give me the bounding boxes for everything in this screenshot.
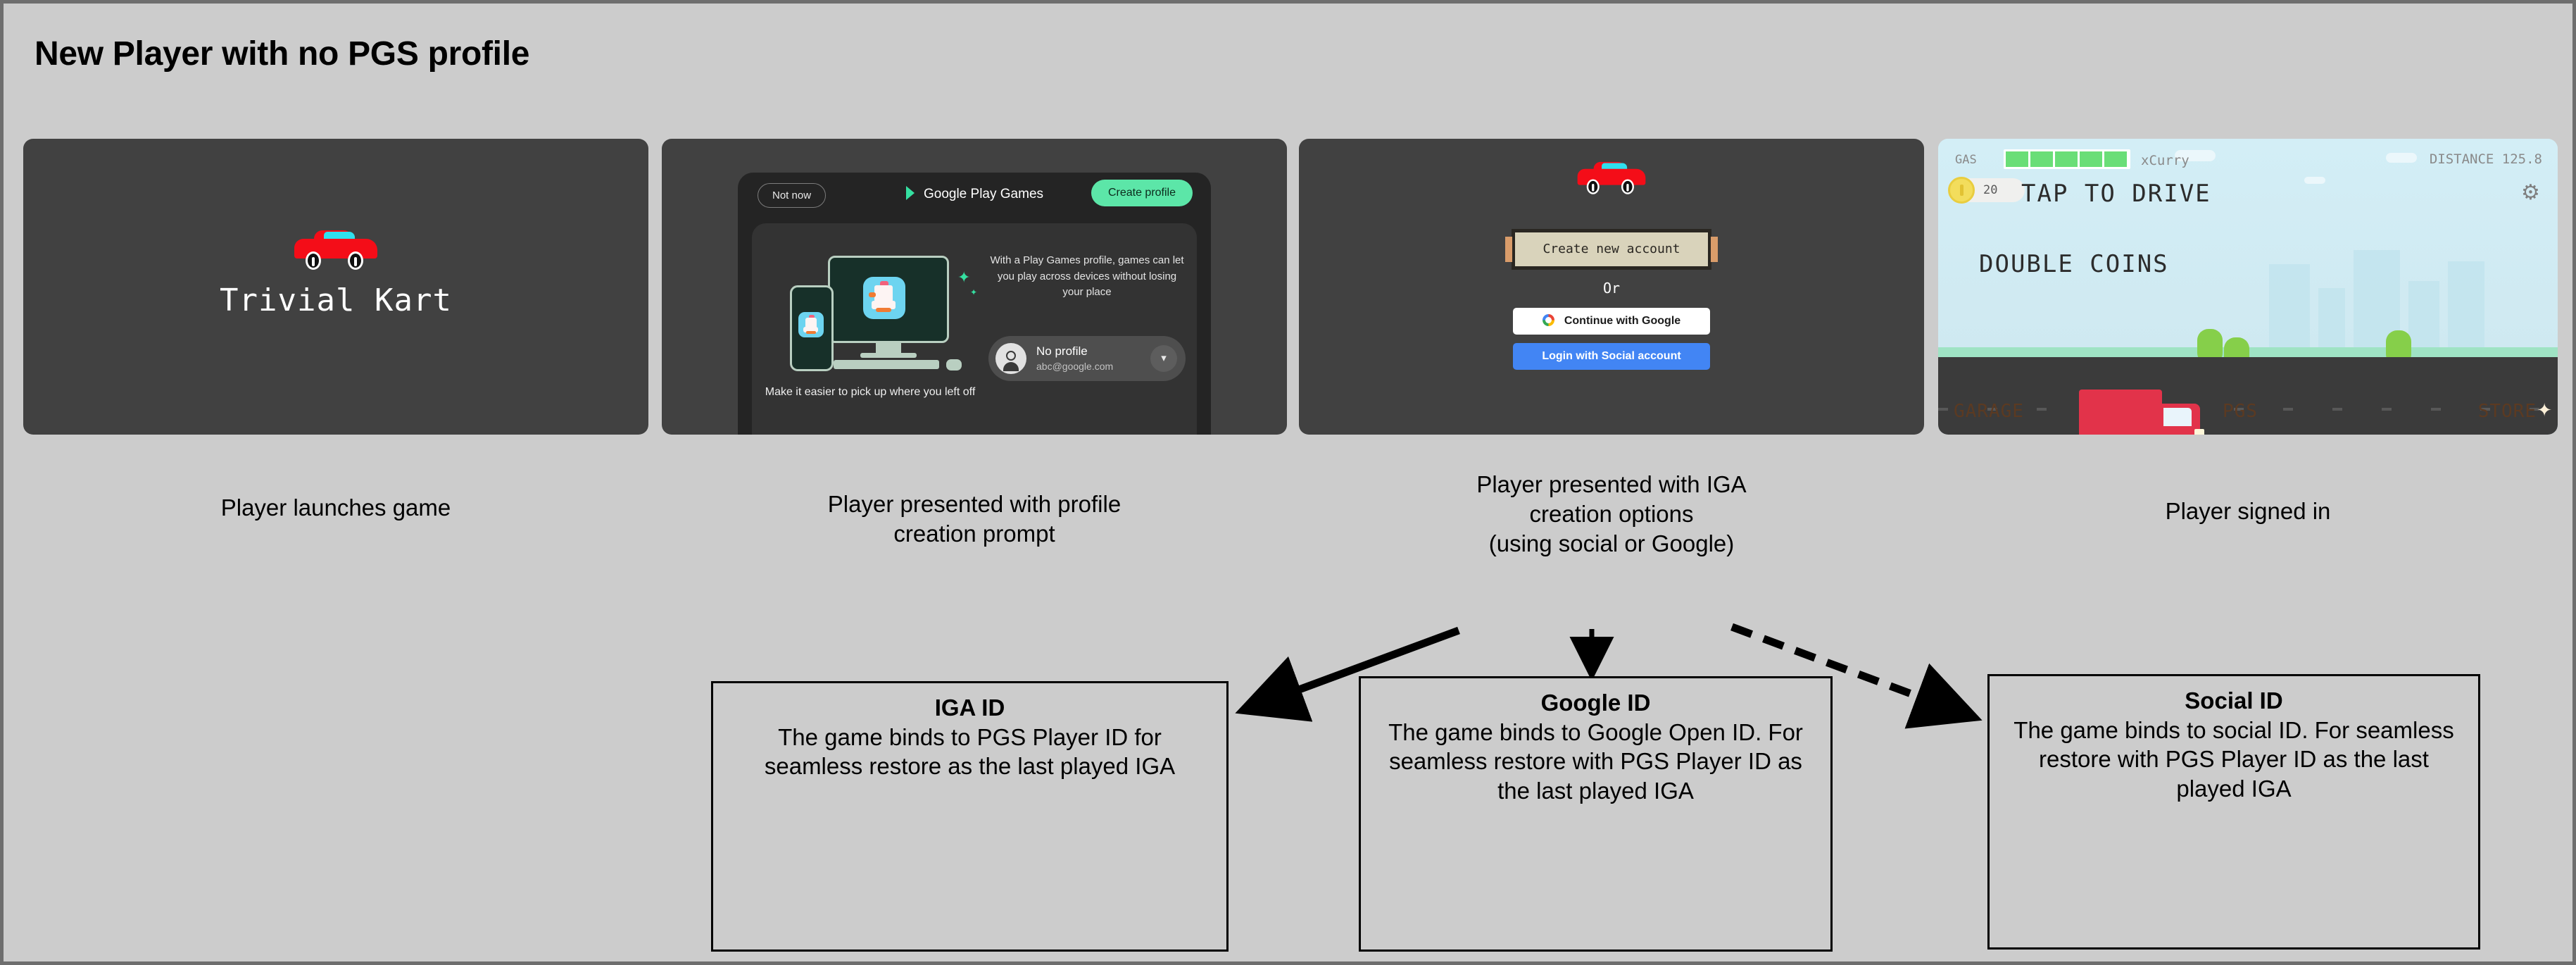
sparkle-small-icon: ✦ [970, 288, 977, 297]
play-games-logo-icon [905, 186, 918, 200]
chevron-down-icon[interactable]: ▾ [1150, 345, 1177, 372]
caption-line: (using social or Google) [1299, 529, 1924, 559]
distance-readout: DISTANCE 125.8 [2430, 151, 2542, 167]
caption-panel-4: Player signed in [1938, 497, 2558, 526]
pgs-dialog: Not now Google Play Games Create profile [738, 173, 1211, 435]
cross-device-illustration: ✦ ✦ [765, 250, 976, 377]
illustration-caption: Make it easier to pick up where you left… [759, 384, 981, 400]
box-title: Social ID [2004, 686, 2464, 716]
sparkle-icon: ✦ [2537, 401, 2552, 419]
box-title: IGA ID [727, 693, 1212, 723]
caption-line: Player presented with IGA [1299, 470, 1924, 499]
player-username: xCurry [2141, 153, 2189, 168]
pgs-blurb-text: With a Play Games profile, games can let… [988, 253, 1186, 301]
splash-content: Trivial Kart [23, 229, 648, 318]
result-box-google-id: Google ID The game binds to Google Open … [1359, 676, 1833, 952]
box-body: The game binds to social ID. For seamles… [2004, 716, 2464, 804]
keyboard-icon [834, 360, 939, 369]
sparkle-icon: ✦ [957, 270, 970, 285]
result-box-iga-id: IGA ID The game binds to PGS Player ID f… [711, 681, 1229, 952]
google-g-icon [1543, 314, 1554, 326]
coin-count: 20 [1983, 183, 1997, 197]
pgs-dialog-topbar: Not now Google Play Games Create profile [738, 173, 1211, 219]
continue-with-google-button[interactable]: Continue with Google [1513, 308, 1710, 335]
create-profile-button[interactable]: Create profile [1091, 180, 1193, 206]
pixel-car-icon [290, 229, 382, 270]
continue-google-label: Continue with Google [1564, 315, 1680, 327]
panel-game-splash: Trivial Kart [23, 139, 648, 435]
coin-badge: 20 [1951, 178, 2025, 202]
brand-label: Google Play Games [924, 187, 1043, 201]
avatar-icon [995, 343, 1026, 374]
page-title: New Player with no PGS profile [34, 35, 529, 73]
pixel-car-icon [1574, 161, 1650, 194]
gas-label: GAS [1955, 153, 1977, 167]
gas-meter [2004, 149, 2130, 169]
game-bottom-nav: GARAGE PGS STORE ✦ [1938, 391, 2558, 435]
mouse-icon [946, 359, 962, 371]
profile-name: No profile [1036, 344, 1088, 359]
panel-pgs-prompt: Not now Google Play Games Create profile [662, 139, 1287, 435]
panel-game-signed-in: GAS xCurry DISTANCE 125.8 20 TAP TO DRIV… [1938, 139, 2558, 435]
result-box-social-id: Social ID The game binds to social ID. F… [1987, 674, 2480, 950]
panel-iga-options: Create new account Or Continue with Goog… [1299, 139, 1924, 435]
double-coins-text: DOUBLE COINS [1979, 250, 2169, 278]
box-title: Google ID [1375, 688, 1816, 718]
caption-panel-3: Player presented with IGA creation optio… [1299, 470, 1924, 559]
coin-icon [1948, 177, 1975, 204]
caption-line: creation prompt [662, 519, 1287, 549]
game-title: Trivial Kart [23, 282, 648, 318]
profile-email: abc@google.com [1036, 361, 1113, 372]
nav-garage[interactable]: GARAGE [1954, 401, 2024, 422]
sky-background [1938, 139, 2558, 349]
game-app-icon-large [863, 277, 905, 319]
game-app-icon-small [798, 312, 824, 337]
login-with-social-button[interactable]: Login with Social account [1513, 343, 1710, 370]
nav-pgs[interactable]: PGS [2223, 401, 2258, 422]
caption-line: Player presented with profile [662, 490, 1287, 519]
nav-store[interactable]: STORE [2478, 401, 2537, 422]
or-separator-label: Or [1299, 280, 1924, 297]
create-new-account-button[interactable]: Create new account [1512, 229, 1711, 270]
caption-panel-1: Player launches game [23, 493, 648, 523]
gear-icon[interactable]: ⚙ [2521, 182, 2542, 204]
tap-to-drive-text: TAP TO DRIVE [2021, 180, 2211, 208]
box-body: The game binds to Google Open ID. For se… [1375, 718, 1816, 806]
caption-line: creation options [1299, 499, 1924, 529]
pgs-dialog-body: ✦ ✦ Make it easier to pick up where you … [752, 223, 1197, 435]
diagram-canvas: New Player with no PGS profile Trivial K… [0, 0, 2576, 965]
box-body: The game binds to PGS Player ID for seam… [727, 723, 1212, 781]
caption-panel-2: Player presented with profile creation p… [662, 490, 1287, 549]
profile-selector-card[interactable]: No profile abc@google.com ▾ [988, 336, 1186, 381]
